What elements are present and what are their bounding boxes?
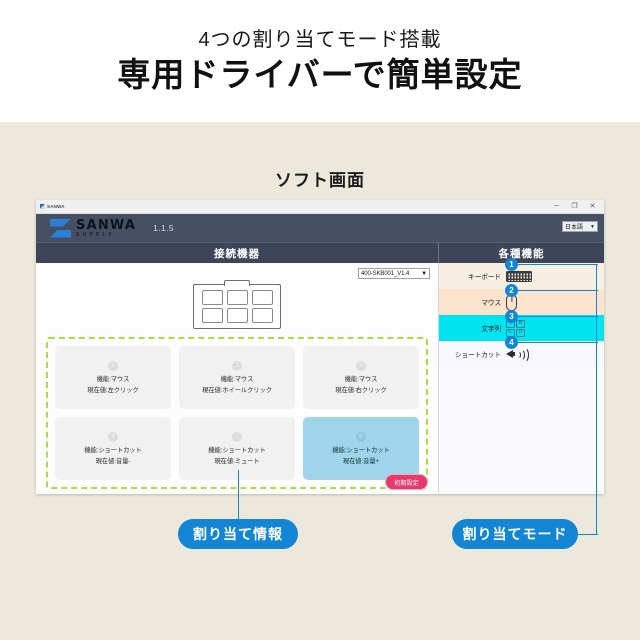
window-app-icon: SANWA [40, 204, 65, 209]
device-key[interactable] [252, 308, 273, 323]
panel-header-devices: 接続機器 [36, 243, 439, 263]
connector-line-right-callout [577, 534, 598, 535]
device-select-value: 400-SKB001_V1.4 [361, 271, 409, 277]
minimize-icon[interactable]: － [552, 203, 561, 210]
assignment-card-current: 現在値:ミュート [214, 458, 259, 466]
mode-label: キーボード [449, 271, 506, 281]
chevron-down-icon: ▼ [421, 271, 427, 277]
device-key[interactable] [227, 308, 248, 323]
mode-row-keyboard[interactable]: キーボード [439, 263, 604, 289]
window-controls: － ❐ ✕ [552, 200, 602, 213]
assignment-card-function: 機能:マウス [97, 376, 130, 384]
sanwa-logo-icon [50, 219, 71, 238]
window-app-label: SANWA [47, 204, 65, 209]
mode-label: マウス [449, 297, 506, 307]
device-key[interactable] [252, 290, 273, 305]
sanwa-mark-icon [40, 204, 45, 209]
assignment-card-number: 1 [108, 361, 118, 371]
app-version: 1.1.5 [153, 223, 174, 233]
assignment-card-function: 機能:ショートカット [208, 447, 265, 455]
mode-row-text-keys[interactable]: 文字列ABCD [439, 315, 604, 341]
device-key[interactable] [202, 290, 223, 305]
app-body: 400-SKB001_V1.4 ▼ 1機能:マウス現在値:左クリック2機能:マウ… [36, 263, 604, 494]
maximize-icon[interactable]: ❐ [570, 203, 579, 210]
assignment-card[interactable]: 4機能:ショートカット現在値:音量- [55, 417, 171, 480]
assignment-card[interactable]: 5機能:ショートカット現在値:ミュート [179, 417, 295, 480]
callout-assignment-mode: 割り当てモード [452, 519, 578, 549]
brand-logo: SANWA SUPPLY [50, 219, 136, 238]
brand-name: SANWA [76, 219, 136, 232]
assignment-card-function: 機能:マウス [345, 376, 378, 384]
assignment-card-number: 4 [108, 432, 118, 442]
device-select[interactable]: 400-SKB001_V1.4 ▼ [358, 268, 430, 279]
mode-badge-1: 1 [505, 258, 518, 271]
mode-icon-wrap [506, 271, 536, 282]
assignment-card-function: 機能:ショートカット [84, 447, 141, 455]
assignment-card-current: 現在値:左クリック [87, 387, 138, 395]
close-icon[interactable]: ✕ [588, 203, 597, 210]
assignment-card-number: 6 [356, 432, 366, 442]
device-diagram [193, 284, 281, 329]
assignment-card-function: 機能:ショートカット [332, 447, 389, 455]
mode-row-speaker[interactable]: ショートカット [439, 341, 604, 367]
connector-line-3 [518, 316, 598, 317]
stage-title: ソフト画面 [0, 166, 640, 191]
callout-assignment-info: 割り当て情報 [178, 519, 298, 549]
stage-area: ソフト画面 SANWA － ❐ ✕ SANWA SUPPLY [0, 122, 640, 640]
assignment-card-current: 現在値:音量- [96, 458, 131, 466]
assignment-card-function: 機能:マウス [221, 376, 254, 384]
mode-badge-3: 3 [505, 310, 518, 323]
assignment-card[interactable]: 2機能:マウス現在値:ホイールクリック [179, 346, 295, 409]
app-window: SANWA － ❐ ✕ SANWA SUPPLY 1.1.5 日本語 ▼ [36, 200, 604, 494]
mode-badge-4: 4 [505, 336, 518, 349]
page-header: 4つの割り当てモード搭載 専用ドライバーで簡単設定 [0, 0, 640, 122]
keyboard-icon [506, 271, 532, 282]
chevron-down-icon: ▼ [590, 224, 595, 230]
assignment-card[interactable]: 6機能:ショートカット現在値:音量+ [303, 417, 419, 480]
brand-subname: SUPPLY [76, 233, 136, 238]
mode-row-mouse[interactable]: マウス [439, 289, 604, 315]
panel-header-row: 接続機器 各種機能 [36, 242, 604, 263]
app-brand-bar: SANWA SUPPLY 1.1.5 日本語 ▼ [36, 214, 604, 242]
connector-line-4 [518, 342, 598, 343]
assignment-card-number: 3 [356, 361, 366, 371]
connected-device-panel: 400-SKB001_V1.4 ▼ 1機能:マウス現在値:左クリック2機能:マウ… [36, 263, 439, 494]
assignment-card-current: 現在値:音量+ [343, 458, 379, 466]
device-key[interactable] [227, 290, 248, 305]
function-mode-panel: キーボードマウス文字列ABCDショートカット [439, 263, 604, 494]
device-key[interactable] [202, 308, 223, 323]
window-titlebar: SANWA － ❐ ✕ [36, 200, 604, 214]
connector-line-right-trunk [596, 264, 597, 535]
reset-button[interactable]: 初期設定 [385, 474, 428, 490]
panel-header-functions: 各種機能 [439, 243, 604, 263]
language-select[interactable]: 日本語 ▼ [562, 221, 598, 232]
assignment-card[interactable]: 3機能:マウス現在値:右クリック [303, 346, 419, 409]
language-value: 日本語 [565, 222, 583, 231]
mode-label: 文字列 [449, 323, 506, 333]
header-subtitle: 4つの割り当てモード搭載 [198, 29, 441, 51]
assignment-card-current: 現在値:ホイールクリック [202, 387, 272, 395]
assignment-card-group: 1機能:マウス現在値:左クリック2機能:マウス現在値:ホイールクリック3機能:マ… [46, 337, 428, 489]
connector-line-1 [518, 264, 598, 265]
mode-badge-2: 2 [505, 284, 518, 297]
assignment-card[interactable]: 1機能:マウス現在値:左クリック [55, 346, 171, 409]
page-title: 専用ドライバーで簡単設定 [117, 57, 522, 93]
mode-label: ショートカット [449, 349, 506, 359]
mode-icon-wrap [506, 347, 536, 361]
connector-line-2 [518, 290, 598, 291]
assignment-card-number: 5 [232, 432, 242, 442]
speaker-icon [506, 347, 526, 361]
assignment-card-number: 2 [232, 361, 242, 371]
assignment-card-current: 現在値:右クリック [335, 387, 386, 395]
